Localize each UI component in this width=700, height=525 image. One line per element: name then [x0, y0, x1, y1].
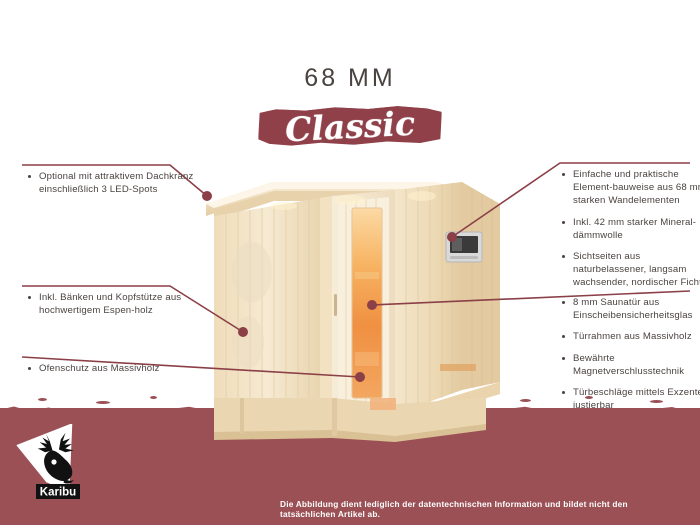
right-return-wall	[462, 182, 500, 390]
band-speck	[520, 399, 531, 402]
cabin-base-overlay	[214, 398, 486, 442]
callout-left-heater-guard: Ofenschutz aus Massivholz	[26, 362, 211, 383]
sauna-door	[332, 190, 395, 414]
callout-item: Sichtseiten aus naturbelassener, langsam…	[560, 250, 700, 290]
callout-item: Optional mit attraktivem Dachkranz einsc…	[26, 170, 211, 196]
callout-item: Türrahmen aus Massivholz	[560, 330, 700, 343]
karibu-logo: Karibu	[14, 424, 106, 508]
callout-left-benches: Inkl. Bänken und Kopfstütze aus hochwert…	[26, 291, 211, 325]
logo-wordmark: Karibu	[40, 487, 76, 499]
sauna-cabin-image	[200, 176, 506, 432]
callout-item: Inkl. 42 mm starker Mineral-dämmwolle	[560, 216, 700, 242]
band-speck	[150, 396, 157, 399]
callout-item: Einfache und praktische Element-bauweise…	[560, 168, 700, 208]
band-speck	[650, 400, 663, 403]
callout-right-door: 8 mm Saunatür aus Einscheibensicherheits…	[560, 296, 700, 420]
band-speck	[38, 398, 47, 401]
callout-item: Bewährte Magnetverschlusstechnik	[560, 352, 700, 378]
callout-item: Inkl. Bänken und Kopfstütze aus hochwert…	[26, 291, 211, 317]
product-line-banner: Classic	[258, 102, 442, 150]
right-wall	[395, 182, 462, 414]
callout-item: Ofenschutz aus Massivholz	[26, 362, 211, 375]
control-panel	[446, 232, 482, 262]
callout-item: 8 mm Saunatür aus Einscheibensicherheits…	[560, 296, 700, 322]
door-frame-left	[320, 196, 332, 398]
footer-disclaimer: Die Abbildung dient lediglich der datent…	[280, 499, 685, 519]
product-line-label: Classic	[257, 97, 443, 155]
band-speck	[585, 396, 593, 399]
callout-right-construction: Einfache und praktische Element-bauweise…	[560, 168, 700, 298]
infographic-canvas: 68 MM Classic	[0, 0, 700, 525]
callout-left-roof: Optional mit attraktivem Dachkranz einsc…	[26, 170, 211, 204]
left-wall	[214, 198, 320, 412]
band-speck	[96, 401, 110, 404]
thickness-title: 68 MM	[0, 64, 700, 93]
